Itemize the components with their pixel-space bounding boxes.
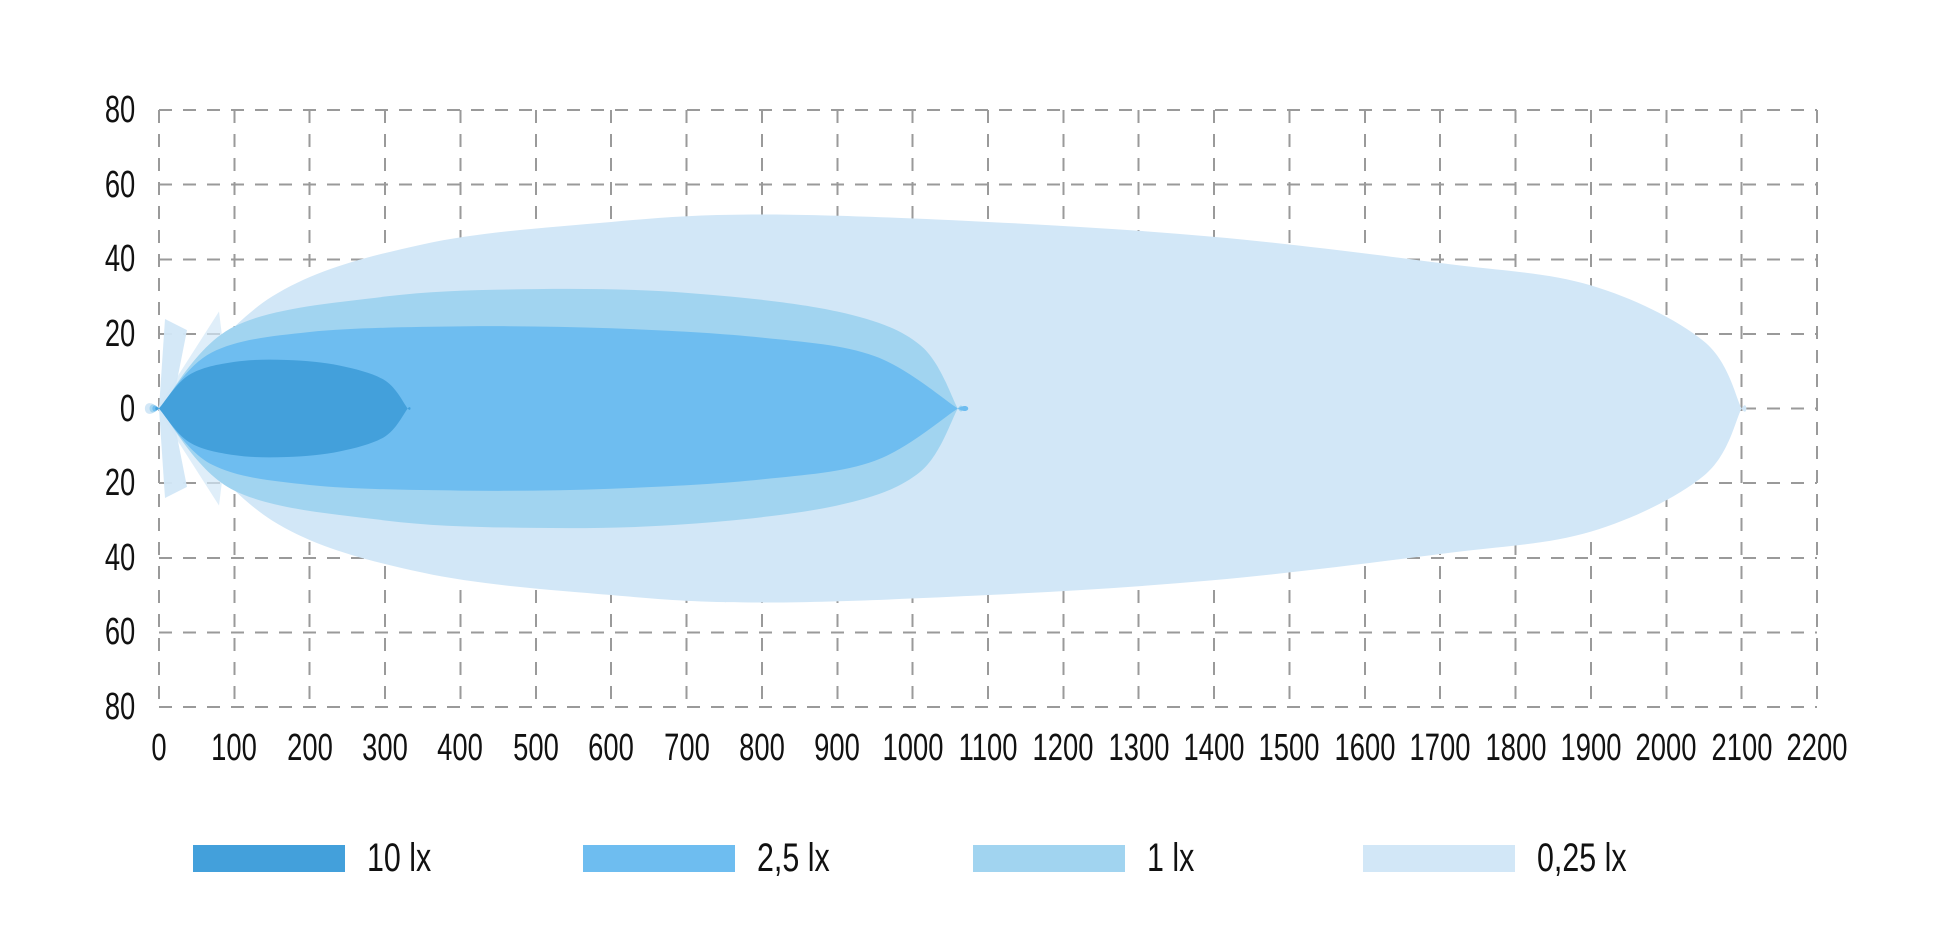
x-tick-label: 2200 [1774,729,1860,767]
legend-swatch [973,845,1125,872]
x-tick-label: 900 [794,729,880,767]
beam-zones [145,214,1746,602]
y-tick-label: 80 [105,91,135,129]
x-tick-label: 1800 [1472,729,1558,767]
x-tick-label: 1600 [1322,729,1408,767]
legend-item[interactable]: 0,25 lx [1363,836,1753,881]
legend: 10 lx2,5 lx1 lx0,25 lx [0,828,1946,888]
y-tick-label: 20 [105,315,135,353]
x-tick-label: 2000 [1623,729,1709,767]
x-tick-label: 1500 [1246,729,1332,767]
x-tick-label: 200 [267,729,353,767]
x-tick-label: 500 [493,729,579,767]
x-tick-label: 0 [116,729,202,767]
legend-swatch [193,845,345,872]
x-tick-label: 1300 [1096,729,1182,767]
legend-item[interactable]: 1 lx [973,836,1363,881]
x-tick-label: 1700 [1397,729,1483,767]
legend-label: 1 lx [1147,836,1194,881]
x-tick-label: 600 [568,729,654,767]
legend-label: 0,25 lx [1537,836,1627,881]
beam-plot-area [0,0,1946,927]
x-tick-label: 700 [643,729,729,767]
y-tick-label: 20 [105,464,135,502]
x-tick-label: 400 [417,729,503,767]
y-tick-label: 40 [105,539,135,577]
x-tick-label: 1200 [1020,729,1106,767]
y-tick-label: 60 [105,166,135,204]
x-tick-label: 100 [191,729,277,767]
x-tick-label: 2100 [1698,729,1784,767]
y-tick-label: 40 [105,240,135,278]
x-tick-label: 1900 [1548,729,1634,767]
legend-swatch [583,845,735,872]
y-tick-label: 80 [105,688,135,726]
legend-label: 10 lx [367,836,431,881]
y-tick-label: 60 [105,613,135,651]
x-tick-label: 1400 [1171,729,1257,767]
legend-item[interactable]: 10 lx [193,836,583,881]
x-tick-label: 300 [342,729,428,767]
x-tick-label: 1100 [945,729,1031,767]
legend-item[interactable]: 2,5 lx [583,836,973,881]
legend-swatch [1363,845,1515,872]
legend-label: 2,5 lx [757,836,830,881]
y-tick-label: 0 [120,390,135,428]
x-tick-label: 1000 [869,729,955,767]
light-distribution-chart: 80604020020406080 0100200300400500600700… [0,0,1946,927]
x-tick-label: 800 [719,729,805,767]
